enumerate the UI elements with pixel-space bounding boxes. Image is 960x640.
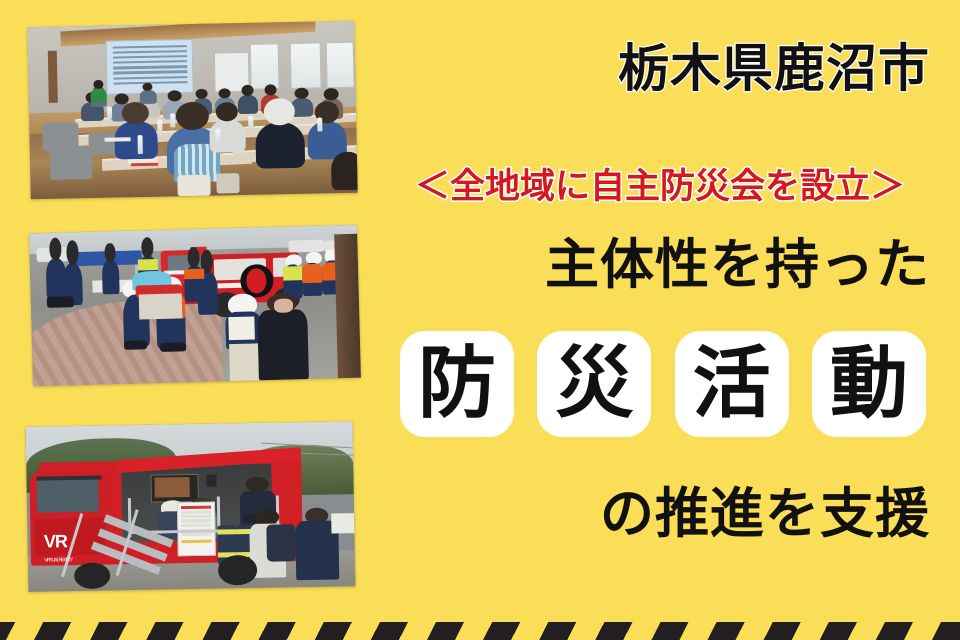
drill-photo [29, 225, 361, 387]
boxed-char-4: 動 [812, 331, 926, 437]
poster-canvas: VR VIRTUAL REALITY 栃木県鹿沼市 ＜全地域に自主防災会を設立＞… [0, 0, 960, 640]
tagline-line-1: 主体性を持った [440, 238, 930, 292]
vr-truck-photo: VR VIRTUAL REALITY [26, 421, 356, 592]
hazard-stripe-footer [0, 622, 960, 640]
drill-scene [29, 225, 361, 387]
seminar-scene [27, 21, 357, 200]
tagline-line-2: の推進を支援 [440, 487, 930, 541]
boxed-char-2: 災 [537, 331, 651, 437]
vr-logo-subtitle: VIRTUAL REALITY [44, 558, 72, 563]
seminar-photo [27, 21, 357, 200]
page-title: 栃木県鹿沼市 [440, 44, 930, 95]
vr-logo: VR [44, 532, 67, 550]
boxed-keyword-row: 防 災 活 動 [400, 331, 926, 437]
vr-truck-scene: VR VIRTUAL REALITY [26, 421, 356, 592]
boxed-char-3: 活 [675, 331, 789, 437]
boxed-char-1: 防 [400, 331, 514, 437]
subtitle-banner: ＜全地域に自主防災会を設立＞ [380, 170, 940, 205]
